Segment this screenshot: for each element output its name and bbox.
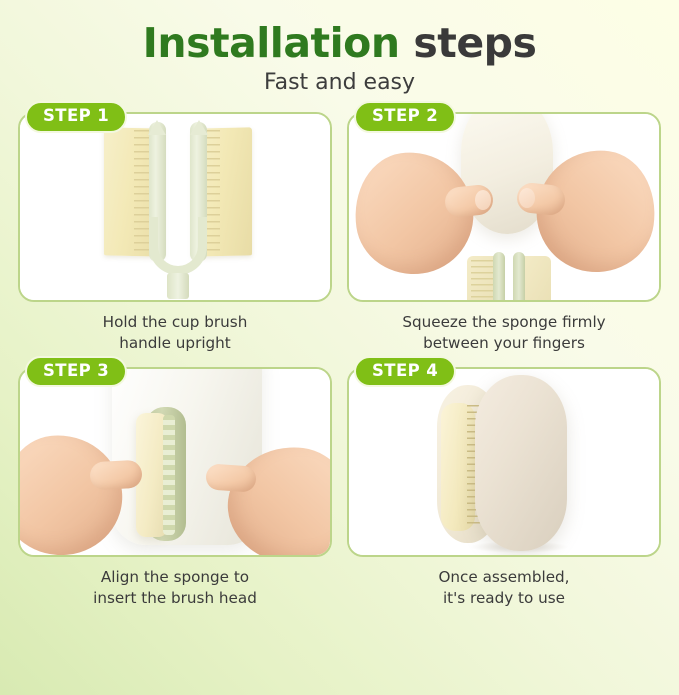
handle-tip-left — [148, 120, 166, 135]
step-4-illustration — [349, 369, 659, 555]
step-1-illustration — [20, 114, 330, 300]
step-caption-3-line-2: insert the brush head — [18, 588, 332, 609]
step-badge-1: STEP 1 — [25, 101, 127, 133]
page-title-rest — [400, 19, 414, 67]
handle-stem — [167, 273, 189, 299]
step-caption-4-line-1: Once assembled, — [347, 567, 661, 588]
step-caption-2-line-2: between your fingers — [347, 333, 661, 354]
step-badge-3: STEP 3 — [25, 356, 127, 388]
left-finger-icon — [89, 460, 142, 491]
step-block-4: STEP 4 Once assembled, it's ready to use — [347, 367, 661, 609]
step-caption-3-line-1: Align the sponge to — [18, 567, 332, 588]
step-card-4 — [347, 367, 661, 557]
page-title-secondary: steps — [413, 19, 536, 67]
step-2-illustration — [349, 114, 659, 300]
step-caption-1-line-2: handle upright — [18, 333, 332, 354]
step-caption-1: Hold the cup brush handle upright — [18, 312, 332, 354]
step-caption-4: Once assembled, it's ready to use — [347, 567, 661, 609]
step-caption-3: Align the sponge to insert the brush hea… — [18, 567, 332, 609]
brush-icon — [467, 246, 551, 302]
step-caption-2-line-1: Squeeze the sponge firmly — [347, 312, 661, 333]
step-3-illustration — [20, 369, 330, 555]
brush-arm-a — [493, 252, 505, 302]
right-thumbnail-icon — [519, 188, 535, 208]
brush-bristles — [471, 260, 493, 302]
page-header: Installation steps Fast and easy — [0, 0, 679, 95]
step-card-3 — [18, 367, 332, 557]
step-card-2 — [347, 112, 661, 302]
step-badge-2: STEP 2 — [354, 101, 456, 133]
page-title-highlight: Installation — [143, 19, 400, 67]
brush-arm-b — [513, 252, 525, 302]
assembled-product-icon — [475, 375, 567, 551]
page-subtitle: Fast and easy — [0, 70, 679, 95]
step-badge-4: STEP 4 — [354, 356, 456, 388]
sponge-scallop-edge-icon — [163, 415, 175, 535]
handle-tip-right — [190, 120, 208, 135]
step-caption-4-line-2: it's ready to use — [347, 588, 661, 609]
left-thumbnail-icon — [475, 190, 491, 210]
step-card-1 — [18, 112, 332, 302]
step-block-1: STEP 1 Hold the cup brush handle upright — [18, 112, 332, 354]
brush-handle-icon — [145, 122, 211, 297]
step-block-3: STEP 3 Align the sponge to insert the br… — [18, 367, 332, 609]
handle-u-loop — [149, 217, 207, 275]
step-caption-2: Squeeze the sponge firmly between your f… — [347, 312, 661, 354]
step-block-2: STEP 2 Squeeze the sponge firmly between… — [347, 112, 661, 354]
step-caption-1-line-1: Hold the cup brush — [18, 312, 332, 333]
right-finger-icon — [205, 463, 257, 492]
steps-grid: STEP 1 Hold the cup brush handle upright — [18, 112, 661, 609]
page-title: Installation steps — [0, 22, 679, 65]
